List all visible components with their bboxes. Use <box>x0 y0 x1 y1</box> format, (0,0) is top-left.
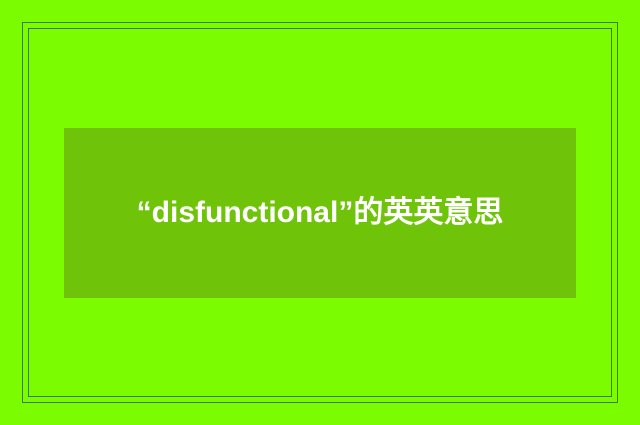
page-title: “disfunctional”的英英意思 <box>130 186 510 240</box>
title-panel: “disfunctional”的英英意思 <box>64 128 576 298</box>
page-canvas: “disfunctional”的英英意思 <box>0 0 640 425</box>
